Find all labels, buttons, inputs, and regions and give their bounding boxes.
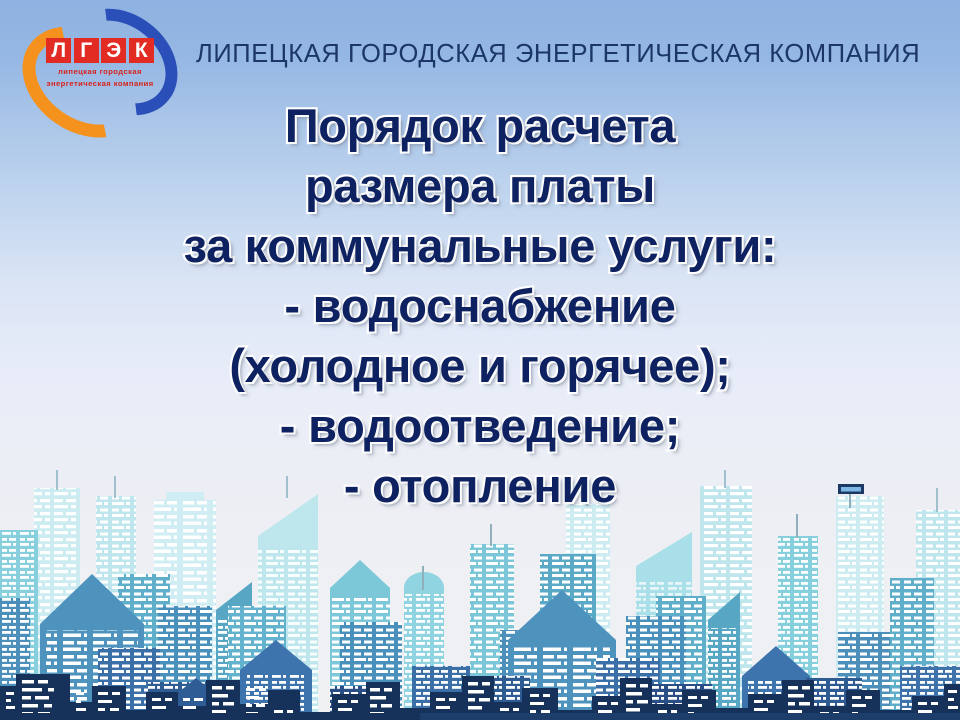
company-name-heading: ЛИПЕЦКАЯ ГОРОДСКАЯ ЭНЕРГЕТИЧЕСКАЯ КОМПАН… (196, 40, 920, 69)
logo-wordmark: Л Г Э К липецкая городская энергетическа… (40, 38, 160, 96)
title-line-2: размера платы (0, 156, 960, 216)
logo-letter-2: Г (74, 38, 99, 63)
logo-letter-4: К (129, 38, 154, 63)
lgek-logo: Л Г Э К липецкая городская энергетическа… (14, 8, 182, 128)
title-line-7: - отопление (0, 456, 960, 516)
title-line-3: за коммунальные услуги: (0, 216, 960, 276)
logo-letter-1: Л (46, 38, 71, 63)
logo-subtitle-line-1: липецкая городская (58, 67, 142, 76)
title-line-5: (холодное и горячее); (0, 336, 960, 396)
logo-acronym: Л Г Э К (46, 38, 154, 63)
title-line-6: - водоотведение; (0, 396, 960, 456)
logo-letter-3: Э (101, 38, 126, 63)
title-line-4: - водоснабжение (0, 276, 960, 336)
slide-canvas: Л Г Э К липецкая городская энергетическа… (0, 0, 960, 720)
logo-subtitle-line-2: энергетическая компания (46, 79, 153, 88)
slide-header: Л Г Э К липецкая городская энергетическа… (0, 0, 960, 96)
slide-title-block: Порядок расчета размера платы за коммуна… (0, 96, 960, 516)
